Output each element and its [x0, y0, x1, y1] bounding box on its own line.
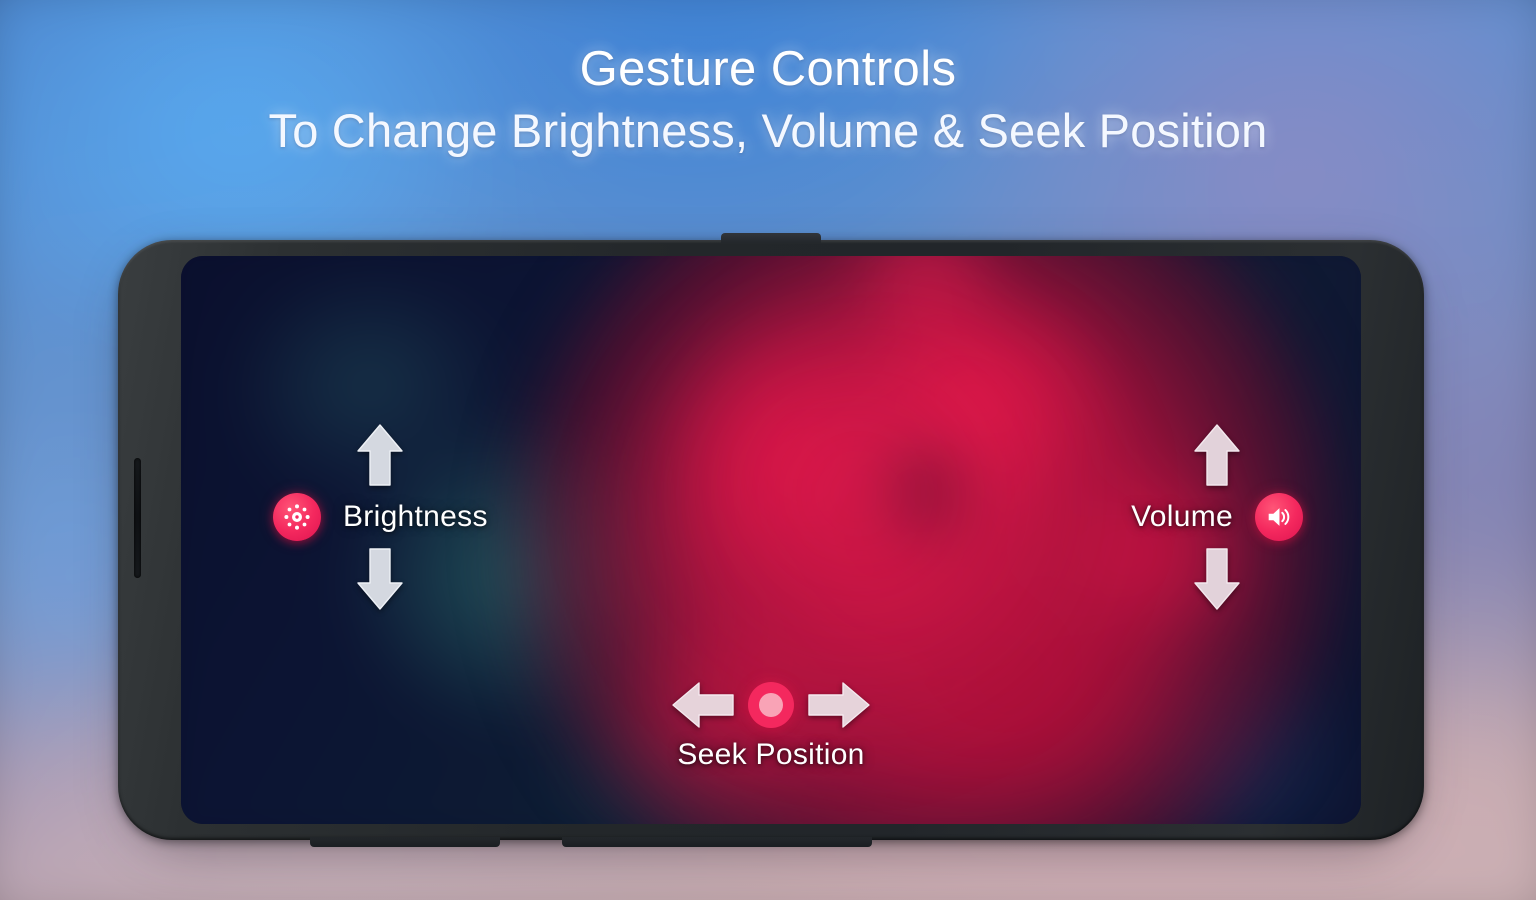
- phone-mockup: Brightness Volume: [118, 240, 1424, 840]
- phone-top-bump: [721, 233, 821, 243]
- brightness-label: Brightness: [343, 500, 488, 534]
- volume-gesture-control[interactable]: Volume: [1131, 424, 1303, 610]
- arrow-up-icon[interactable]: [357, 424, 403, 486]
- promo-screenshot: Gesture Controls To Change Brightness, V…: [0, 0, 1536, 900]
- brightness-gesture-control[interactable]: Brightness: [273, 424, 488, 610]
- seek-row: [672, 682, 870, 728]
- arrow-down-icon[interactable]: [357, 548, 403, 610]
- arrow-left-icon[interactable]: [672, 682, 734, 728]
- arrow-down-icon[interactable]: [1194, 548, 1240, 610]
- brightness-badge-row: Brightness: [273, 493, 488, 541]
- sun-glyph: [281, 501, 313, 533]
- volume-badge-row: Volume: [1131, 493, 1303, 541]
- seek-label: Seek Position: [677, 738, 864, 772]
- header: Gesture Controls To Change Brightness, V…: [0, 44, 1536, 156]
- speaker-glyph: [1264, 502, 1294, 532]
- volume-label: Volume: [1131, 500, 1233, 534]
- page-subtitle: To Change Brightness, Volume & Seek Posi…: [0, 107, 1536, 156]
- arrow-up-icon[interactable]: [1194, 424, 1240, 486]
- brightness-sun-icon[interactable]: [273, 493, 321, 541]
- phone-bottom-bump-left: [310, 837, 500, 847]
- seek-gesture-control[interactable]: Seek Position: [672, 682, 870, 772]
- phone-side-button[interactable]: [134, 458, 141, 578]
- arrow-right-icon[interactable]: [808, 682, 870, 728]
- seek-dot-icon[interactable]: [748, 682, 794, 728]
- phone-screen[interactable]: Brightness Volume: [181, 256, 1361, 824]
- volume-speaker-icon[interactable]: [1255, 493, 1303, 541]
- phone-bottom-bump-right: [562, 837, 872, 847]
- phone-frame: Brightness Volume: [118, 240, 1424, 840]
- seek-dot-center: [759, 693, 783, 717]
- page-title: Gesture Controls: [0, 44, 1536, 95]
